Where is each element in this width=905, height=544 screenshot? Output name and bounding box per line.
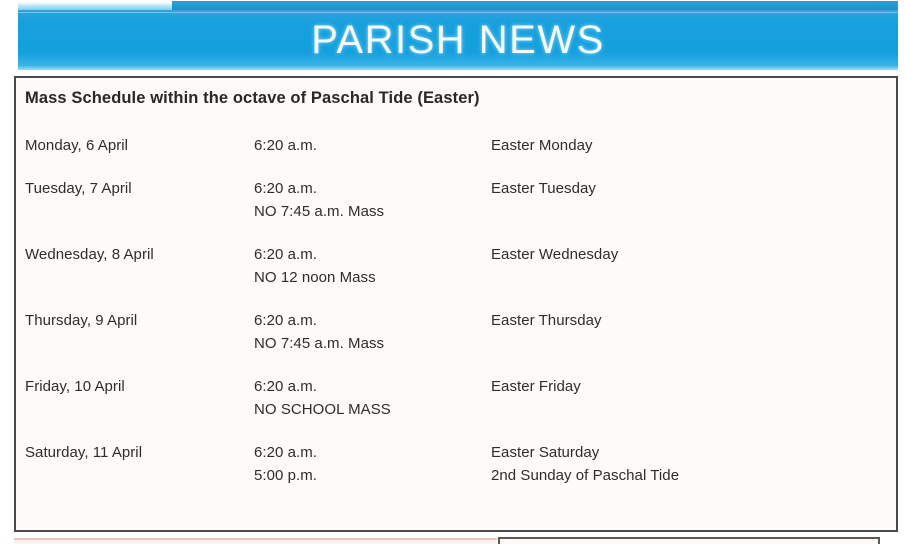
table-row: Wednesday, 8 April 6:20 a.m. NO 12 noon …	[25, 243, 875, 289]
lower-right-panel-edge	[498, 537, 880, 544]
schedule-description-label: Easter Friday	[491, 375, 875, 398]
schedule-description-cell: Easter Thursday	[491, 309, 875, 355]
schedule-time-label: 6:20 a.m.	[254, 134, 491, 157]
schedule-day-label: Monday, 6 April	[25, 134, 254, 157]
schedule-time-cell: 6:20 a.m. 5:00 p.m.	[254, 441, 491, 487]
schedule-time-cell: 6:20 a.m. NO 7:45 a.m. Mass	[254, 309, 491, 355]
schedule-day-cell: Friday, 10 April	[25, 375, 254, 421]
schedule-description-cell: Easter Tuesday	[491, 177, 875, 223]
schedule-time-cell: 6:20 a.m. NO 12 noon Mass	[254, 243, 491, 289]
schedule-time-label: 6:20 a.m.	[254, 177, 491, 200]
table-row: Monday, 6 April 6:20 a.m. Easter Monday	[25, 134, 875, 157]
schedule-day-label: Wednesday, 8 April	[25, 243, 254, 266]
mass-schedule-box: Mass Schedule within the octave of Pasch…	[14, 76, 898, 532]
lower-left-panel-edge	[14, 538, 497, 544]
schedule-description-note: 2nd Sunday of Paschal Tide	[491, 464, 875, 487]
top-strip-light-accent	[18, 2, 172, 10]
schedule-day-cell: Thursday, 9 April	[25, 309, 254, 355]
schedule-description-cell: Easter Monday	[491, 134, 875, 157]
schedule-description-label: Easter Saturday	[491, 441, 875, 464]
schedule-description-label: Easter Thursday	[491, 309, 875, 332]
schedule-day-label: Thursday, 9 April	[25, 309, 254, 332]
table-row: Tuesday, 7 April 6:20 a.m. NO 7:45 a.m. …	[25, 177, 875, 223]
table-row: Saturday, 11 April 6:20 a.m. 5:00 p.m. E…	[25, 441, 875, 487]
schedule-time-note: NO 7:45 a.m. Mass	[254, 200, 491, 223]
schedule-time-note: NO SCHOOL MASS	[254, 398, 491, 421]
schedule-description-cell: Easter Saturday 2nd Sunday of Paschal Ti…	[491, 441, 875, 487]
schedule-description-label: Easter Monday	[491, 134, 875, 157]
schedule-time-note: NO 7:45 a.m. Mass	[254, 332, 491, 355]
schedule-time-cell: 6:20 a.m. NO SCHOOL MASS	[254, 375, 491, 421]
parish-news-banner: PARISH NEWS	[18, 12, 898, 70]
schedule-description-cell: Easter Wednesday	[491, 243, 875, 289]
schedule-day-label: Tuesday, 7 April	[25, 177, 254, 200]
schedule-time-label: 6:20 a.m.	[254, 309, 491, 332]
schedule-day-cell: Saturday, 11 April	[25, 441, 254, 487]
top-strip-dark-accent	[172, 1, 898, 10]
schedule-time-note: NO 12 noon Mass	[254, 266, 491, 289]
schedule-description-label: Easter Tuesday	[491, 177, 875, 200]
schedule-time-label: 6:20 a.m.	[254, 243, 491, 266]
schedule-description-cell: Easter Friday	[491, 375, 875, 421]
schedule-time-label: 6:20 a.m.	[254, 375, 491, 398]
table-row: Friday, 10 April 6:20 a.m. NO SCHOOL MAS…	[25, 375, 875, 421]
schedule-time-cell: 6:20 a.m. NO 7:45 a.m. Mass	[254, 177, 491, 223]
schedule-table: Monday, 6 April 6:20 a.m. Easter Monday …	[25, 134, 875, 507]
schedule-time-cell: 6:20 a.m.	[254, 134, 491, 157]
schedule-heading: Mass Schedule within the octave of Pasch…	[25, 89, 480, 108]
schedule-time-note: 5:00 p.m.	[254, 464, 491, 487]
schedule-description-label: Easter Wednesday	[491, 243, 875, 266]
schedule-day-cell: Wednesday, 8 April	[25, 243, 254, 289]
schedule-day-label: Saturday, 11 April	[25, 441, 254, 464]
schedule-day-cell: Monday, 6 April	[25, 134, 254, 157]
table-row: Thursday, 9 April 6:20 a.m. NO 7:45 a.m.…	[25, 309, 875, 355]
schedule-time-label: 6:20 a.m.	[254, 441, 491, 464]
banner-title: PARISH NEWS	[311, 20, 605, 60]
schedule-day-cell: Tuesday, 7 April	[25, 177, 254, 223]
schedule-day-label: Friday, 10 April	[25, 375, 254, 398]
